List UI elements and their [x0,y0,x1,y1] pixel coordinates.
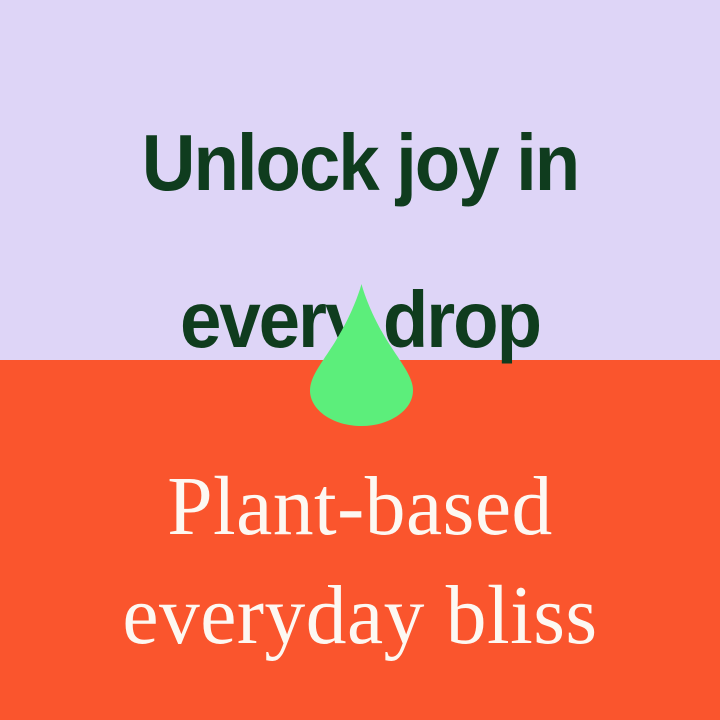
top-headline-line-1: Unlock joy in [25,124,695,202]
bottom-headline-line-1: Plant-based [11,452,709,561]
bottom-headline: Plant-based everyday bliss [11,452,709,670]
water-droplet-shape [310,284,413,426]
promo-poster: Unlock joy in every drop Plant-based eve… [0,0,720,720]
bottom-headline-line-2: everyday bliss [11,561,709,670]
water-droplet-icon [310,284,413,426]
